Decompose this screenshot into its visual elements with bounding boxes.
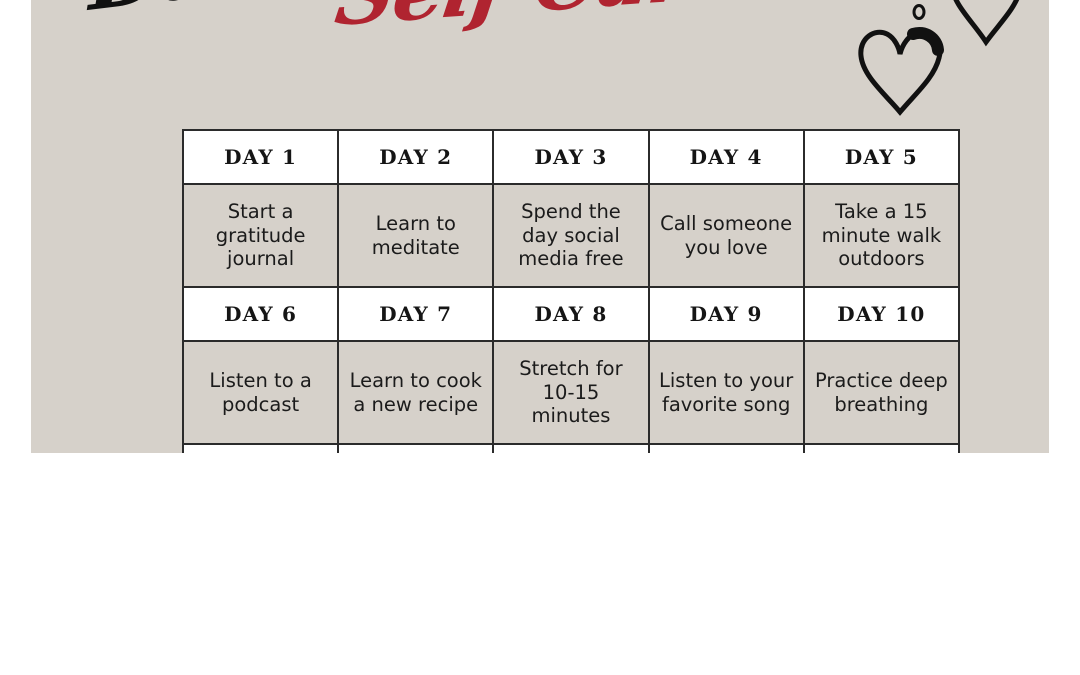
day-task-cell: Learn to cook a new recipe	[338, 341, 493, 444]
day-header-cell: DAY 6	[183, 287, 338, 341]
day-header-cell: DAY 5	[804, 130, 959, 184]
day-task-cell: Practice deep breathing	[804, 341, 959, 444]
day-header-cell	[338, 444, 493, 453]
day-task-cell: Spend the day social media free	[493, 184, 648, 287]
heart-dot-icon	[910, 0, 928, 26]
day-header-cell	[493, 444, 648, 453]
poster-canvas: Da Self-Care Challenge DAY 1 DAY 2 DAY 3…	[31, 0, 1049, 453]
day-header-cell: DAY 10	[804, 287, 959, 341]
day-header-cell: DAY 9	[649, 287, 804, 341]
day-header-cell: DAY 2	[338, 130, 493, 184]
day-task-cell: Call someone you love	[649, 184, 804, 287]
day-task-cell: Listen to your favorite song	[649, 341, 804, 444]
day-header-cell: DAY 3	[493, 130, 648, 184]
day-header-cell	[183, 444, 338, 453]
heart-icon	[855, 24, 945, 120]
decorative-script-word: Da	[87, 0, 210, 24]
table-row-tasks: Start a gratitude journal Learn to medit…	[183, 184, 959, 287]
table-row-days-header: DAY 6 DAY 7 DAY 8 DAY 9 DAY 10	[183, 287, 959, 341]
day-header-cell: DAY 1	[183, 130, 338, 184]
heart-icon	[947, 0, 1025, 52]
day-task-cell: Listen to a podcast	[183, 341, 338, 444]
day-task-cell: Start a gratitude journal	[183, 184, 338, 287]
day-task-cell: Take a 15 minute walk outdoors	[804, 184, 959, 287]
day-header-cell	[804, 444, 959, 453]
table-row-tasks: Listen to a podcast Learn to cook a new …	[183, 341, 959, 444]
table-row-days-header: DAY 1 DAY 2 DAY 3 DAY 4 DAY 5	[183, 130, 959, 184]
challenge-table: DAY 1 DAY 2 DAY 3 DAY 4 DAY 5 Start a gr…	[182, 129, 960, 453]
day-header-cell: DAY 7	[338, 287, 493, 341]
day-task-cell: Stretch for 10-15 minutes	[493, 341, 648, 444]
day-header-cell	[649, 444, 804, 453]
table-row-days-header-clipped	[183, 444, 959, 453]
day-task-cell: Learn to meditate	[338, 184, 493, 287]
day-header-cell: DAY 8	[493, 287, 648, 341]
day-header-cell: DAY 4	[649, 130, 804, 184]
